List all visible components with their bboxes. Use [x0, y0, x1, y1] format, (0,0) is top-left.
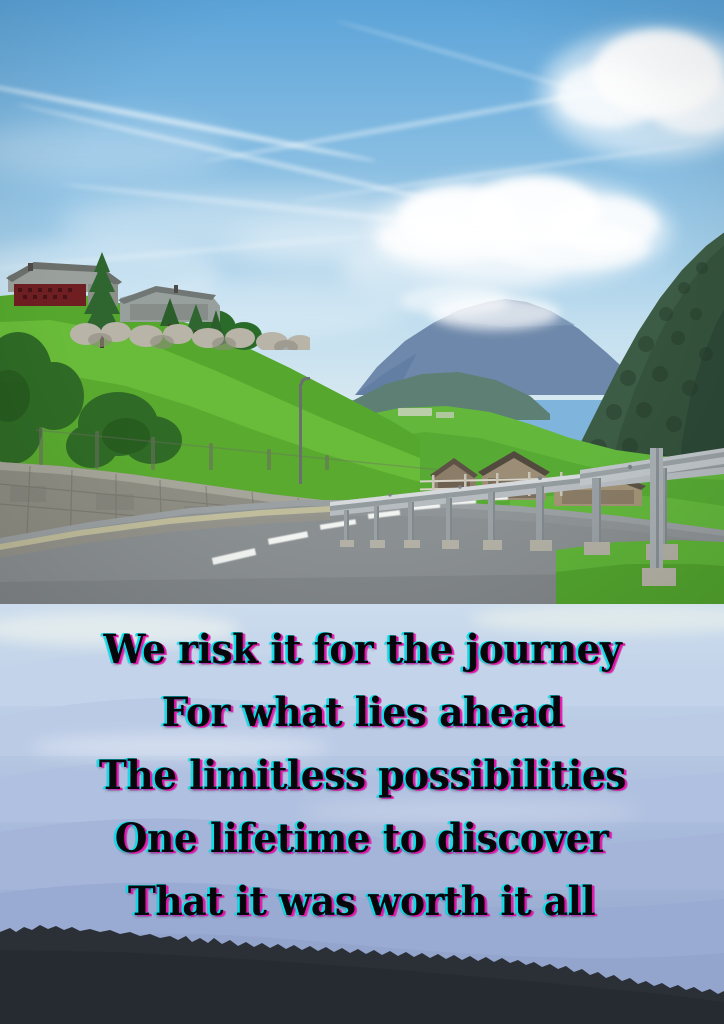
- quote-line: That it was worth it all: [128, 870, 595, 933]
- quote-line: For what lies ahead: [161, 681, 562, 744]
- quote-graphic: We risk it for the journey For what lies…: [0, 0, 724, 1024]
- cloud: [556, 62, 664, 128]
- guardrail-post-foreground: [640, 448, 680, 598]
- quote-line: One lifetime to discover: [115, 807, 609, 870]
- road-shoulder: [0, 498, 330, 558]
- quote-text-block: We risk it for the journey For what lies…: [0, 604, 724, 1024]
- quote-line: We risk it for the journey: [103, 618, 621, 681]
- quote-line: The limitless possibilities: [98, 744, 625, 807]
- rock-boulders: [70, 310, 310, 350]
- road-photograph: [0, 0, 724, 604]
